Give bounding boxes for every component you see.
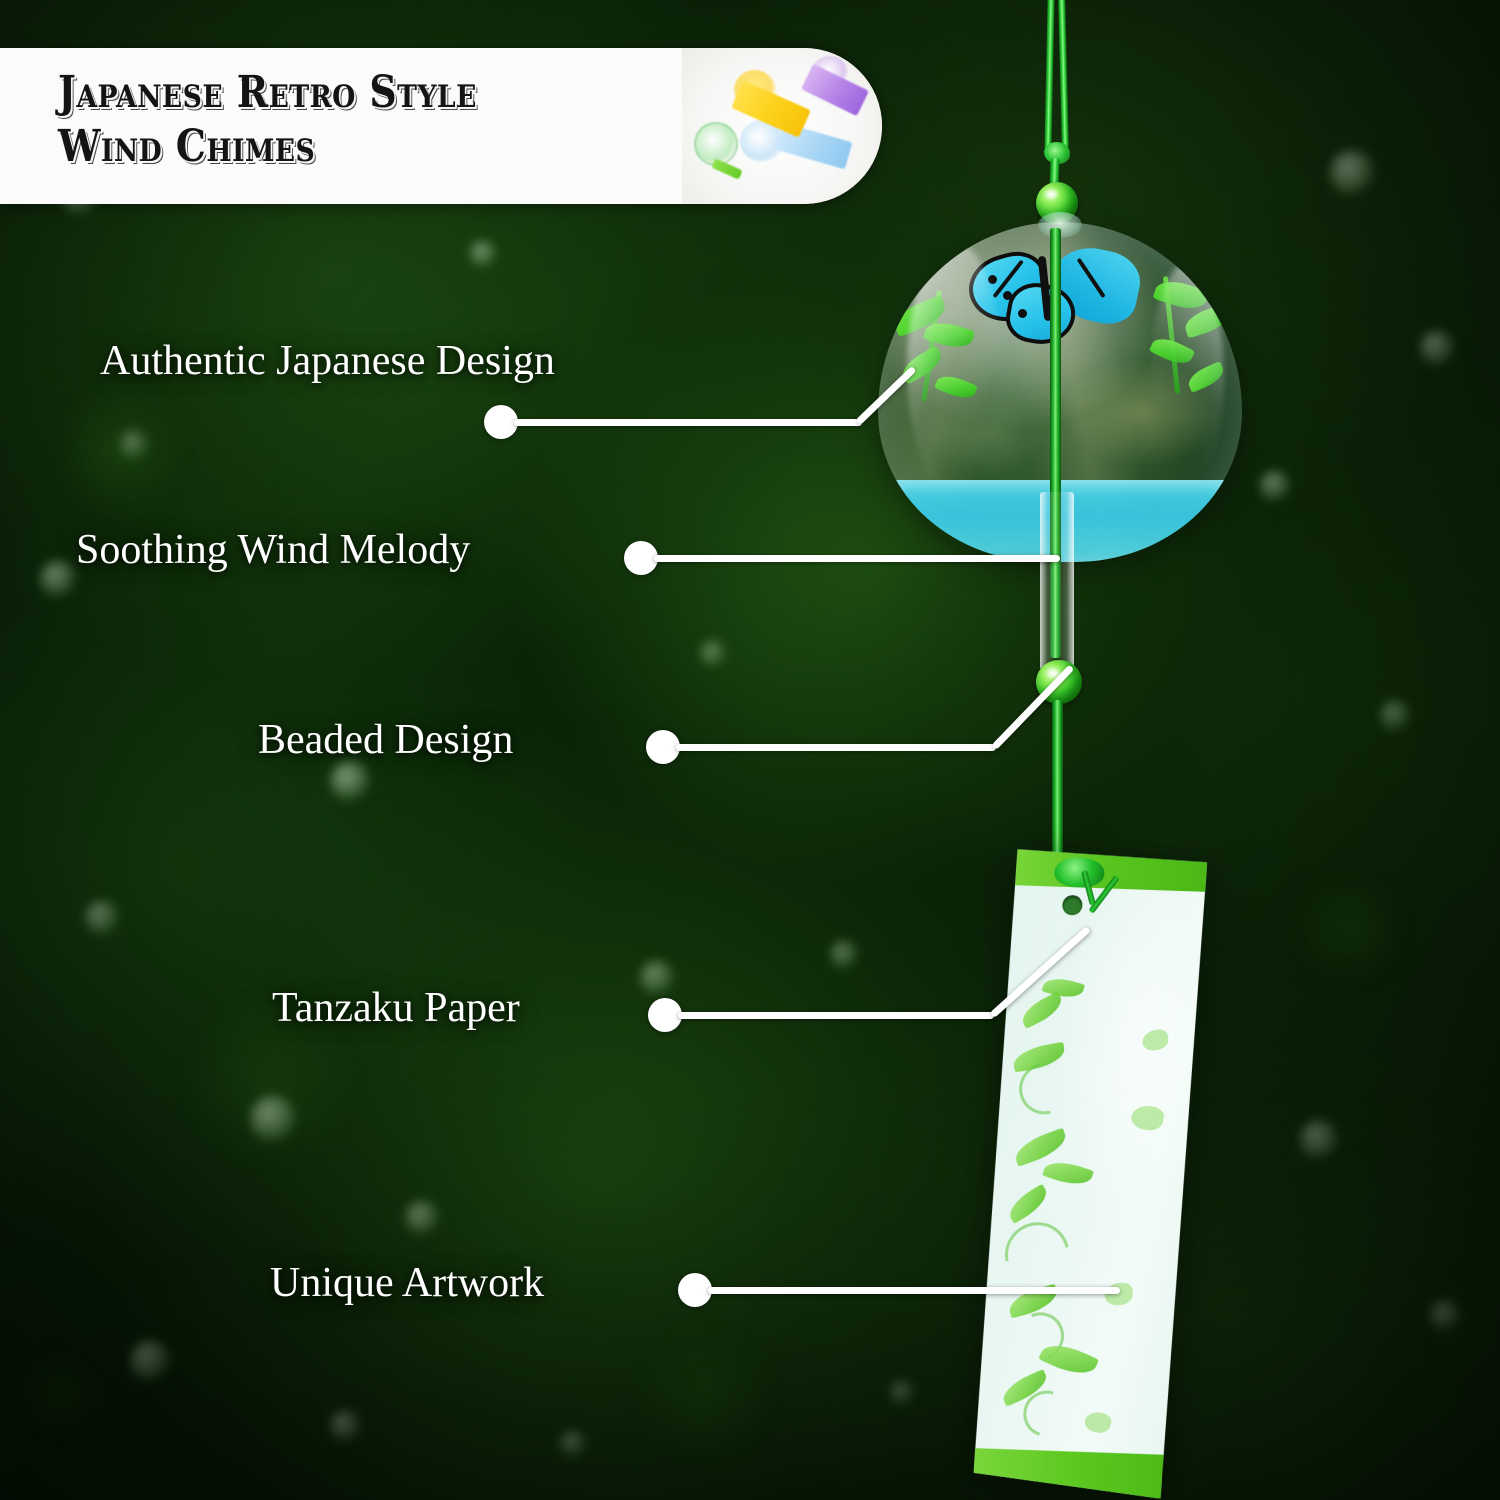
bead-highlight — [1044, 188, 1060, 200]
title-banner: Japanese Retro Style Wind Chimes — [0, 48, 882, 204]
feature-label-beaded-design: Beaded Design — [258, 719, 513, 761]
feature-label-tanzaku-paper: Tanzaku Paper — [272, 987, 520, 1029]
callout-line-soothing-wind-melody — [654, 555, 1060, 562]
tanzaku-butterfly — [1104, 1282, 1133, 1306]
tanzaku-butterfly — [1083, 1410, 1113, 1435]
feature-label-unique-artwork: Unique Artwork — [270, 1262, 544, 1304]
hanging-cord-right-strand — [1058, 0, 1069, 148]
callout-dot-unique-artwork[interactable] — [678, 1273, 712, 1307]
callout-line-unique-artwork — [708, 1287, 1120, 1294]
bell-highlight-left — [907, 242, 1002, 494]
tanzaku-swirl — [993, 1210, 1082, 1298]
callout-dot-soothing-wind-melody[interactable] — [624, 541, 658, 575]
bell-highlight-right — [1151, 263, 1224, 487]
callout-dot-tanzaku-paper[interactable] — [648, 998, 682, 1032]
tanzaku-surface — [972, 849, 1207, 1499]
tanzaku-butterfly — [1129, 1103, 1165, 1132]
tanzaku-cord-knot — [1053, 857, 1105, 889]
feature-label-authentic-japanese-design: Authentic Japanese Design — [100, 340, 555, 382]
hanging-cord-left-strand — [1044, 0, 1054, 150]
callout-dot-authentic-japanese-design[interactable] — [484, 405, 518, 439]
callout-line-authentic-japanese-design — [514, 419, 862, 426]
butterfly-wing-dot — [1003, 291, 1012, 300]
infographic-canvas: Authentic Japanese Design Soothing Wind … — [0, 0, 1500, 1500]
tanzaku-butterfly — [1141, 1028, 1170, 1052]
tanzaku-leaf — [1004, 1184, 1052, 1224]
tanzaku-bottom-band — [972, 1448, 1171, 1499]
tanzaku-leaf — [1011, 1128, 1069, 1167]
tanzaku-leaf — [1042, 1156, 1094, 1190]
tanzaku-paper-strip — [972, 849, 1207, 1499]
callout-line-tanzaku-paper — [678, 1012, 994, 1019]
page-title: Japanese Retro Style Wind Chimes — [58, 66, 608, 173]
callout-line-beaded-design — [676, 744, 996, 751]
tanzaku-leaf — [1018, 992, 1066, 1029]
product-thumbnail-photo — [682, 48, 882, 204]
glass-clapper — [1040, 492, 1074, 670]
callout-dot-beaded-design[interactable] — [646, 730, 680, 764]
feature-label-soothing-wind-melody: Soothing Wind Melody — [76, 529, 470, 571]
